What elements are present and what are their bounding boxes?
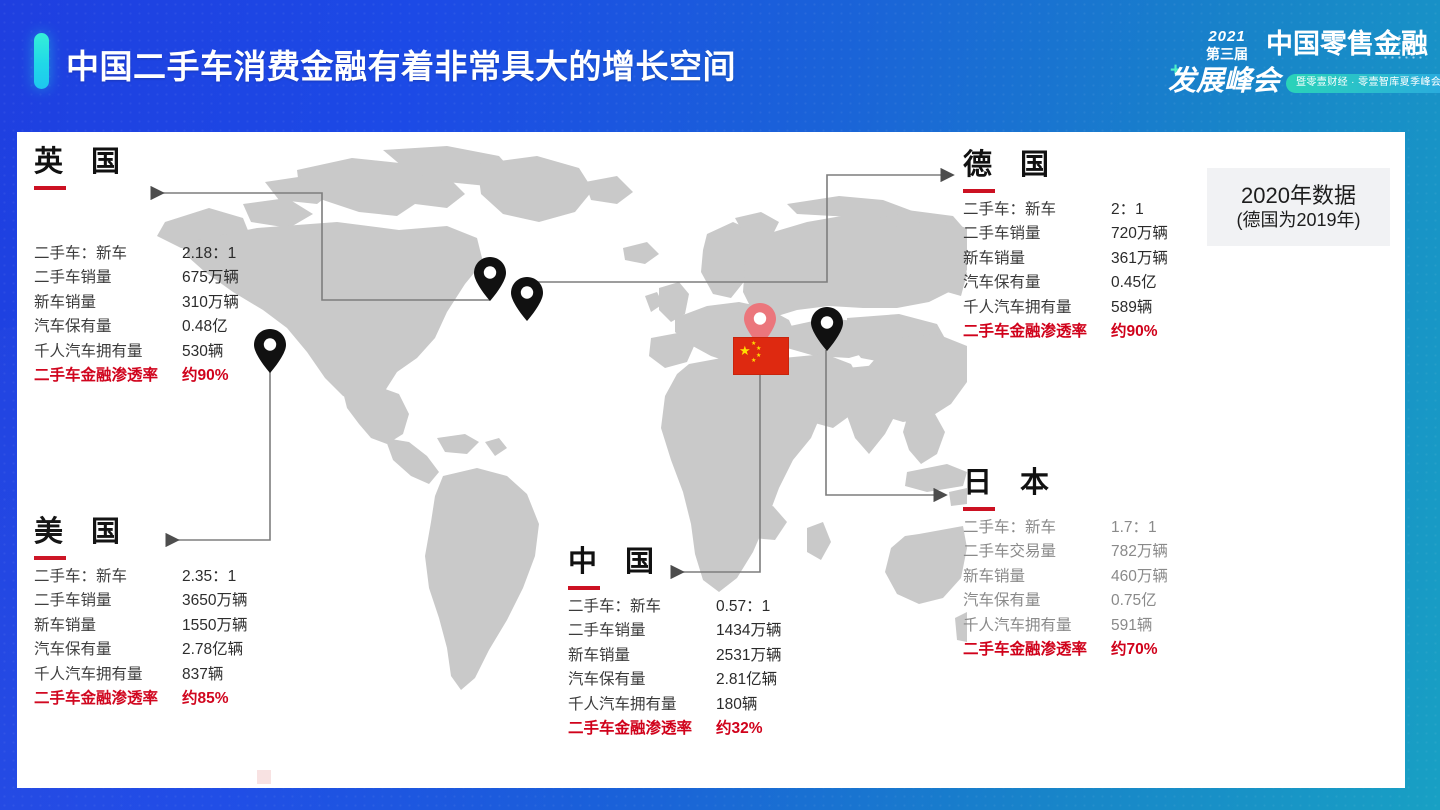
flag-star-large: ★	[739, 344, 751, 357]
row-label: 新车销量	[963, 569, 1111, 585]
slide: 中国二手车消费金融有着非常具大的增长空间 + 2021 第三届 中国零售金融 发…	[0, 0, 1440, 810]
row-value: 约32%	[716, 721, 763, 737]
flag-star-4: ★	[751, 358, 756, 364]
country-rows-us: 二手车：新车2.35：1 二手车销量3650万辆 新车销量1550万辆 汽车保有…	[34, 569, 247, 707]
row-value: 460万辆	[1111, 569, 1168, 585]
country-rows-cn: 二手车：新车0.57：1 二手车销量1434万辆 新车销量2531万辆 汽车保有…	[568, 599, 781, 737]
year-note-main: 2020年数据	[1241, 183, 1356, 208]
logo-edition: 第三届	[1190, 47, 1264, 61]
data-row: 二手车：新车0.57：1	[568, 599, 781, 615]
row-label: 汽车保有量	[34, 642, 182, 658]
row-value: 530辆	[182, 344, 223, 360]
page-title: 中国二手车消费金融有着非常具大的增长空间	[66, 40, 736, 88]
country-rule-uk	[34, 186, 66, 190]
row-value: 2：1	[1111, 202, 1144, 218]
event-logo: + 2021 第三届 中国零售金融 发展峰会 暨零壹财经 · 零壹智库夏季峰会	[1154, 27, 1424, 101]
flag-star-3: ★	[756, 353, 761, 359]
row-value: 0.45亿	[1111, 275, 1157, 291]
row-label: 汽车保有量	[963, 593, 1111, 609]
row-label: 新车销量	[34, 618, 182, 634]
country-block-uk: 英 国 二手车：新车2.18：1 二手车销量675万辆 新车销量310万辆 汽车…	[34, 147, 239, 393]
row-label: 二手车销量	[963, 226, 1111, 242]
data-row-penetration: 二手车金融渗透率约90%	[963, 324, 1168, 340]
row-label: 汽车保有量	[963, 275, 1111, 291]
row-label: 汽车保有量	[568, 672, 716, 688]
row-value: 782万辆	[1111, 544, 1168, 560]
row-label: 二手车销量	[34, 593, 182, 609]
pin-japan[interactable]	[810, 306, 844, 352]
data-row: 二手车销量1434万辆	[568, 623, 781, 639]
watermark-square	[257, 770, 271, 784]
row-label: 二手车金融渗透率	[34, 368, 182, 384]
country-block-us: 美 国 二手车：新车2.35：1 二手车销量3650万辆 新车销量1550万辆 …	[34, 517, 247, 716]
row-value: 589辆	[1111, 300, 1152, 316]
logo-year: 2021	[1190, 29, 1264, 44]
row-label: 二手车：新车	[34, 246, 182, 262]
row-label: 新车销量	[34, 295, 182, 311]
row-value: 2.78亿辆	[182, 642, 243, 658]
row-label: 汽车保有量	[34, 319, 182, 335]
data-row-penetration: 二手车金融渗透率约90%	[34, 368, 239, 384]
row-label: 二手车金融渗透率	[963, 324, 1111, 340]
data-row: 汽车保有量0.75亿	[963, 593, 1168, 609]
country-rule-cn	[568, 586, 600, 590]
data-row: 汽车保有量0.48亿	[34, 319, 239, 335]
data-row-penetration: 二手车金融渗透率约32%	[568, 721, 781, 737]
data-row: 二手车交易量782万辆	[963, 544, 1168, 560]
row-label: 二手车金融渗透率	[34, 691, 182, 707]
data-row: 二手车销量720万辆	[963, 226, 1168, 242]
row-value: 837辆	[182, 667, 223, 683]
row-value: 1434万辆	[716, 623, 781, 639]
data-row-penetration: 二手车金融渗透率约70%	[963, 642, 1168, 658]
country-name-uk: 英 国	[34, 147, 239, 179]
data-row: 二手车销量675万辆	[34, 270, 239, 286]
pin-germany[interactable]	[510, 276, 544, 322]
country-rule-jp	[963, 507, 995, 511]
row-value: 1550万辆	[182, 618, 247, 634]
row-value: 2531万辆	[716, 648, 781, 664]
row-label: 新车销量	[963, 251, 1111, 267]
row-label: 千人汽车拥有量	[568, 697, 716, 713]
data-row: 二手车：新车1.7：1	[963, 520, 1168, 536]
country-name-de: 德 国	[963, 150, 1168, 182]
data-row: 新车销量361万辆	[963, 251, 1168, 267]
data-row: 二手车：新车2.35：1	[34, 569, 247, 585]
year-note-box: 2020年数据 (德国为2019年)	[1207, 168, 1390, 246]
row-value: 0.57：1	[716, 599, 770, 615]
row-label: 二手车销量	[568, 623, 716, 639]
row-value: 361万辆	[1111, 251, 1168, 267]
flag-star-2: ★	[756, 346, 761, 352]
row-value: 591辆	[1111, 618, 1152, 634]
row-label: 二手车：新车	[963, 202, 1111, 218]
logo-summit-text: 发展峰会	[1168, 67, 1280, 95]
row-label: 二手车：新车	[34, 569, 182, 585]
data-row: 千人汽车拥有量591辆	[963, 618, 1168, 634]
row-value: 2.18：1	[182, 246, 236, 262]
data-row: 新车销量2531万辆	[568, 648, 781, 664]
row-value: 约70%	[1111, 642, 1158, 658]
row-label: 二手车交易量	[963, 544, 1111, 560]
data-row: 千人汽车拥有量837辆	[34, 667, 247, 683]
data-row: 新车销量310万辆	[34, 295, 239, 311]
country-block-de: 德 国 二手车：新车2：1 二手车销量720万辆 新车销量361万辆 汽车保有量…	[963, 150, 1168, 349]
row-label: 千人汽车拥有量	[34, 344, 182, 360]
logo-subtitle: 暨零壹财经 · 零壹智库夏季峰会	[1286, 74, 1440, 93]
country-rule-de	[963, 189, 995, 193]
country-block-jp: 日 本 二手车：新车1.7：1 二手车交易量782万辆 新车销量460万辆 汽车…	[963, 468, 1168, 667]
title-accent-bar	[34, 33, 49, 89]
data-row: 新车销量460万辆	[963, 569, 1168, 585]
row-value: 约90%	[182, 368, 229, 384]
row-label: 千人汽车拥有量	[963, 618, 1111, 634]
data-row: 汽车保有量2.78亿辆	[34, 642, 247, 658]
row-value: 310万辆	[182, 295, 239, 311]
row-value: 720万辆	[1111, 226, 1168, 242]
country-rule-us	[34, 556, 66, 560]
row-value: 2.81亿辆	[716, 672, 777, 688]
row-value: 0.48亿	[182, 319, 228, 335]
row-value: 约90%	[1111, 324, 1158, 340]
row-label: 二手车金融渗透率	[568, 721, 716, 737]
row-label: 二手车金融渗透率	[963, 642, 1111, 658]
country-name-jp: 日 本	[963, 468, 1168, 500]
row-value: 1.7：1	[1111, 520, 1157, 536]
pin-uk[interactable]	[473, 256, 507, 302]
country-rows-de: 二手车：新车2：1 二手车销量720万辆 新车销量361万辆 汽车保有量0.45…	[963, 202, 1168, 340]
row-value: 675万辆	[182, 270, 239, 286]
row-label: 千人汽车拥有量	[963, 300, 1111, 316]
data-row: 二手车销量3650万辆	[34, 593, 247, 609]
row-label: 二手车销量	[34, 270, 182, 286]
row-value: 3650万辆	[182, 593, 247, 609]
data-row: 汽车保有量2.81亿辆	[568, 672, 781, 688]
row-label: 二手车：新车	[963, 520, 1111, 536]
pin-usa[interactable]	[253, 328, 287, 374]
row-label: 新车销量	[568, 648, 716, 664]
world-map	[147, 142, 967, 702]
data-row: 二手车：新车2.18：1	[34, 246, 239, 262]
row-label: 千人汽车拥有量	[34, 667, 182, 683]
country-rows-uk: 二手车：新车2.18：1 二手车销量675万辆 新车销量310万辆 汽车保有量0…	[34, 246, 239, 384]
data-row: 二手车：新车2：1	[963, 202, 1168, 218]
row-value: 180辆	[716, 697, 757, 713]
data-row: 新车销量1550万辆	[34, 618, 247, 634]
country-rows-jp: 二手车：新车1.7：1 二手车交易量782万辆 新车销量460万辆 汽车保有量0…	[963, 520, 1168, 658]
row-value: 2.35：1	[182, 569, 236, 585]
year-note-sub: (德国为2019年)	[1236, 210, 1360, 232]
logo-main-text: 中国零售金融	[1266, 31, 1428, 58]
data-row: 千人汽车拥有量589辆	[963, 300, 1168, 316]
country-name-cn: 中 国	[568, 547, 781, 579]
data-row: 千人汽车拥有量530辆	[34, 344, 239, 360]
data-row: 汽车保有量0.45亿	[963, 275, 1168, 291]
country-block-cn: 中 国 二手车：新车0.57：1 二手车销量1434万辆 新车销量2531万辆 …	[568, 547, 781, 746]
content-card: ★ ★ ★ ★ ★ 英 国 二手车：新车2.18：1 二手车销量675万辆 新车…	[17, 132, 1405, 788]
row-value: 0.75亿	[1111, 593, 1157, 609]
data-row-penetration: 二手车金融渗透率约85%	[34, 691, 247, 707]
row-value: 约85%	[182, 691, 229, 707]
data-row: 千人汽车拥有量180辆	[568, 697, 781, 713]
row-label: 二手车：新车	[568, 599, 716, 615]
china-flag-icon: ★ ★ ★ ★ ★	[733, 337, 789, 375]
country-name-us: 美 国	[34, 517, 247, 549]
